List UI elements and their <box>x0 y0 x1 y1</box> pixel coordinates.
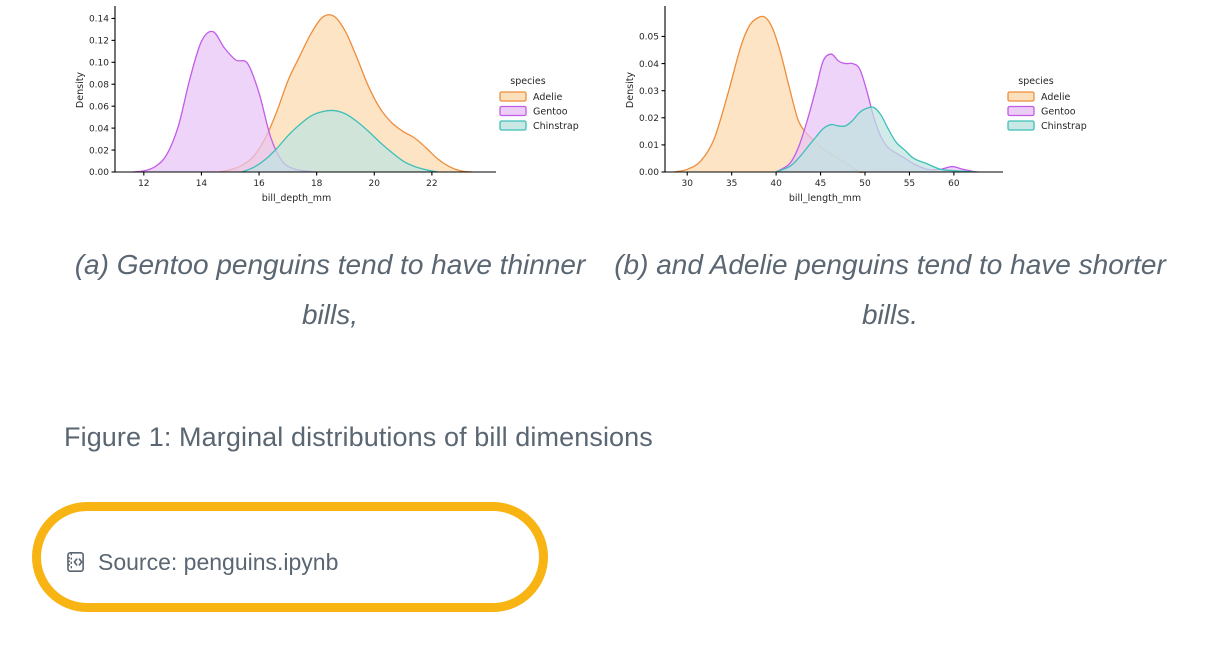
subfigure-b: 0.000.010.020.030.040.0530354045505560bi… <box>610 0 1170 220</box>
svg-text:Gentoo: Gentoo <box>1041 107 1076 118</box>
svg-text:20: 20 <box>369 179 381 189</box>
svg-text:0.02: 0.02 <box>639 114 659 124</box>
subcaption-b: (b) and Adelie penguins tend to have sho… <box>610 240 1170 340</box>
svg-text:0.10: 0.10 <box>89 59 109 69</box>
svg-text:bill_depth_mm: bill_depth_mm <box>262 193 332 204</box>
plot-bill-length: 0.000.010.020.030.040.0530354045505560bi… <box>610 0 1170 220</box>
svg-text:0.00: 0.00 <box>639 168 659 178</box>
svg-text:30: 30 <box>681 179 693 189</box>
svg-text:species: species <box>1018 76 1054 87</box>
svg-text:Chinstrap: Chinstrap <box>533 121 579 132</box>
source-label: Source: penguins.ipynb <box>98 549 338 576</box>
svg-text:16: 16 <box>253 179 265 189</box>
svg-text:Gentoo: Gentoo <box>533 107 568 118</box>
svg-text:Adelie: Adelie <box>1041 92 1070 103</box>
svg-text:species: species <box>510 76 546 87</box>
svg-text:0.05: 0.05 <box>639 33 659 43</box>
svg-text:40: 40 <box>770 179 782 189</box>
bill-length-kde-svg: 0.000.010.020.030.040.0530354045505560bi… <box>610 0 1170 220</box>
svg-text:0.04: 0.04 <box>89 124 109 134</box>
figure-caption: Figure 1: Marginal distributions of bill… <box>64 422 653 453</box>
svg-text:50: 50 <box>859 179 871 189</box>
svg-text:Density: Density <box>75 72 86 108</box>
svg-text:0.08: 0.08 <box>89 80 109 90</box>
source-link[interactable]: Source: penguins.ipynb <box>62 542 338 582</box>
svg-text:14: 14 <box>196 179 208 189</box>
svg-text:35: 35 <box>726 179 737 189</box>
svg-text:bill_length_mm: bill_length_mm <box>789 193 861 204</box>
plot-bill-depth: 0.000.020.040.060.080.100.120.1412141618… <box>60 0 600 220</box>
svg-text:55: 55 <box>904 179 915 189</box>
svg-text:0.03: 0.03 <box>639 87 659 97</box>
svg-text:0.04: 0.04 <box>639 60 659 70</box>
svg-text:0.01: 0.01 <box>639 141 659 151</box>
svg-text:0.06: 0.06 <box>89 102 109 112</box>
subfigure-a: 0.000.020.040.060.080.100.120.1412141618… <box>60 0 600 220</box>
svg-text:0.12: 0.12 <box>89 37 109 47</box>
subcaption-a: (a) Gentoo penguins tend to have thinner… <box>60 240 600 340</box>
bill-depth-kde-svg: 0.000.020.040.060.080.100.120.1412141618… <box>60 0 600 220</box>
svg-text:Adelie: Adelie <box>533 92 562 103</box>
svg-text:Chinstrap: Chinstrap <box>1041 121 1087 132</box>
notebook-code-icon <box>62 549 88 575</box>
svg-text:0.00: 0.00 <box>89 168 109 178</box>
svg-text:18: 18 <box>311 179 323 189</box>
svg-text:Density: Density <box>625 72 636 108</box>
svg-text:22: 22 <box>426 179 437 189</box>
subcaption-row: (a) Gentoo penguins tend to have thinner… <box>0 240 1215 350</box>
figure-row: 0.000.020.040.060.080.100.120.1412141618… <box>0 0 1215 220</box>
svg-text:45: 45 <box>815 179 826 189</box>
svg-text:12: 12 <box>138 179 149 189</box>
svg-text:0.14: 0.14 <box>89 15 109 25</box>
svg-text:60: 60 <box>948 179 960 189</box>
svg-text:0.02: 0.02 <box>89 146 109 156</box>
